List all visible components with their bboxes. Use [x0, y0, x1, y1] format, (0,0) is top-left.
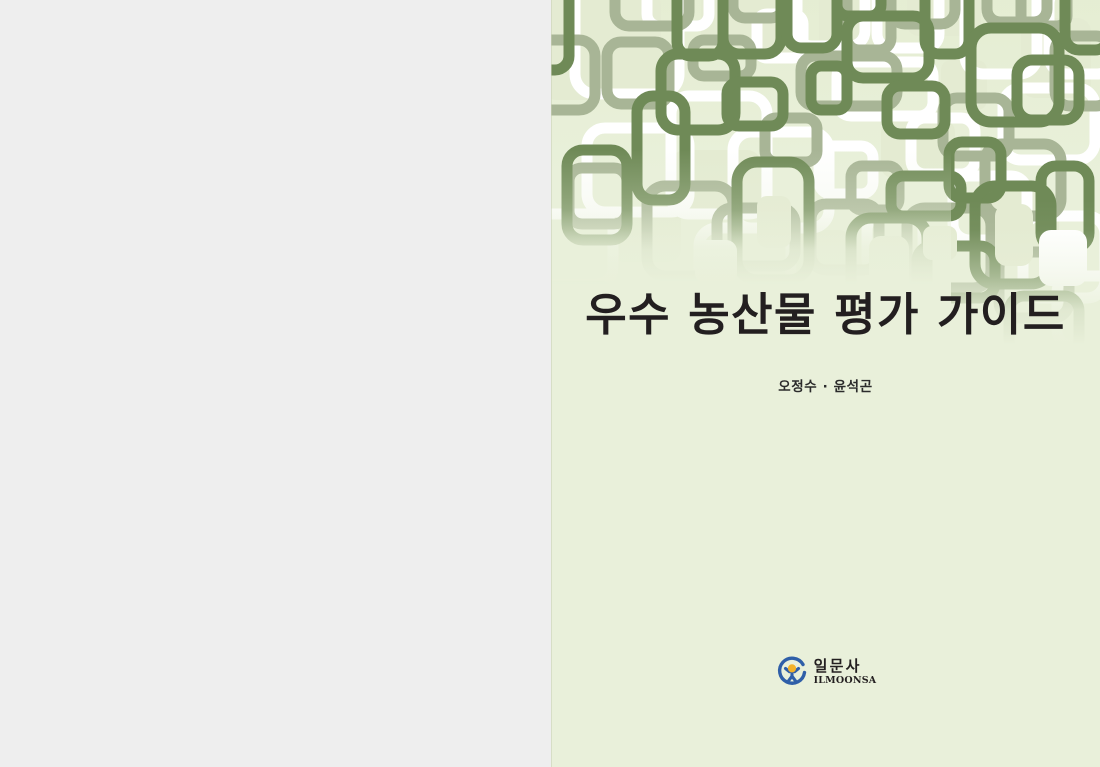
author-block: 오정수 · 윤석곤	[551, 375, 1100, 395]
title-block: 우수 농산물 평가 가이드	[551, 292, 1100, 337]
back-cover-panel	[0, 0, 551, 767]
author-names: 오정수 · 윤석곤	[551, 375, 1100, 395]
publisher-logo: 일문사 ILMOONSA	[551, 655, 1100, 689]
page-title: 우수 농산물 평가 가이드	[551, 292, 1100, 337]
front-cover: 우수 농산물 평가 가이드 오정수 · 윤석곤	[551, 0, 1100, 767]
publisher-name-korean: 일문사	[814, 659, 862, 674]
publisher-name-english: ILMOONSA	[814, 676, 877, 686]
person-in-circle-icon	[775, 655, 809, 689]
book-cover-page: 우수 농산물 평가 가이드 오정수 · 윤석곤	[0, 0, 1100, 767]
